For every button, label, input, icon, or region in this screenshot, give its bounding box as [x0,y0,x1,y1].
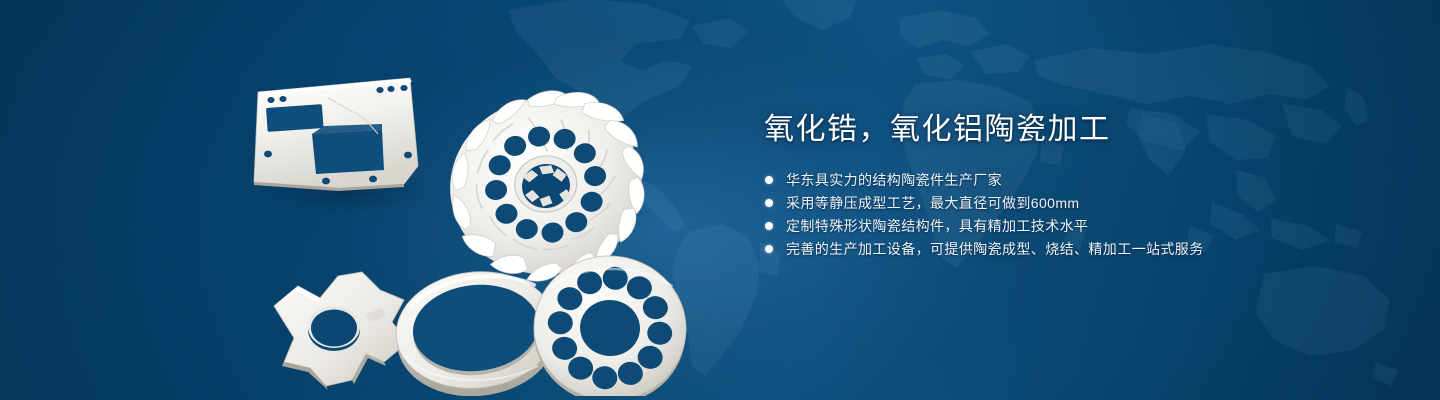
list-item-label: 华东具实力的结构陶瓷件生产厂家 [786,172,1002,188]
ceramic-products-image [228,36,714,396]
list-item: 完善的生产加工设备，可提供陶瓷成型、烧结、精加工一站式服务 [764,241,1364,257]
promo-banner: 氧化锆，氧化铝陶瓷加工 华东具实力的结构陶瓷件生产厂家 采用等静压成型工艺，最大… [0,0,1440,400]
list-item-label: 定制特殊形状陶瓷结构件，具有精加工技术水平 [786,218,1088,234]
page-title: 氧化锆，氧化铝陶瓷加工 [764,110,1364,150]
list-item-label: 采用等静压成型工艺，最大直径可做到600mm [786,195,1079,211]
ceramic-plate-shape [254,78,418,191]
bullet-dot-icon [765,222,773,230]
bullet-dot-icon [765,199,773,207]
feature-list: 华东具实力的结构陶瓷件生产厂家 采用等静压成型工艺，最大直径可做到600mm 定… [764,172,1364,257]
ceramic-cross-part-shape [274,272,408,390]
list-item: 华东具实力的结构陶瓷件生产厂家 [764,172,1364,188]
list-item: 采用等静压成型工艺，最大直径可做到600mm [764,195,1364,211]
list-item-label: 完善的生产加工设备，可提供陶瓷成型、烧结、精加工一站式服务 [786,241,1204,257]
banner-copy: 氧化锆，氧化铝陶瓷加工 华东具实力的结构陶瓷件生产厂家 采用等静压成型工艺，最大… [764,110,1364,264]
bullet-dot-icon [765,176,773,184]
list-item: 定制特殊形状陶瓷结构件，具有精加工技术水平 [764,218,1364,234]
bullet-dot-icon [765,245,773,253]
